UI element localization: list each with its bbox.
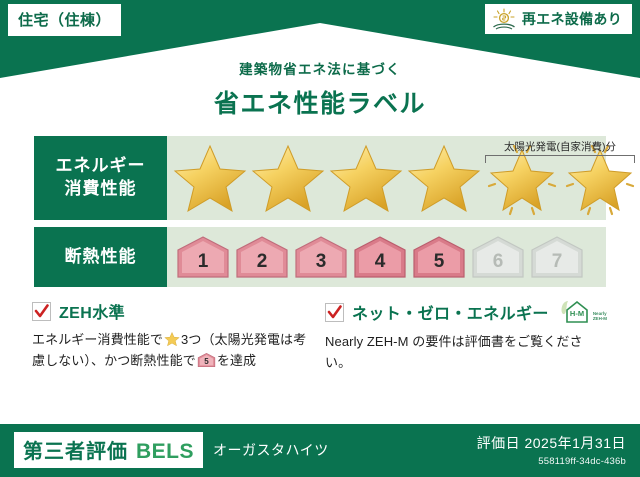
note-zeh-header: ZEH水準	[32, 299, 315, 323]
insulation-performance-row: 断熱性能 1	[34, 227, 606, 287]
energy-label-line2: 消費性能	[65, 178, 137, 201]
label-content-panel: 建築物省エネ法に基づく 省エネ性能ラベル エネルギー 消費性能	[18, 44, 622, 422]
energy-row-label: エネルギー 消費性能	[34, 136, 167, 220]
building-type-tag: 住宅（住棟）	[8, 4, 121, 36]
evaluation-date: 評価日 2025年1月31日	[477, 433, 626, 453]
note-net-zero-energy: ネット・ゼロ・エネルギー H-M Nearly ZEH-M Nearly	[325, 299, 608, 373]
insulation-level-4: 4	[352, 233, 408, 281]
energy-label-line1: エネルギー	[56, 155, 146, 178]
bels-certification-badge: 第三者評価 BELS	[14, 432, 203, 468]
label-subtitle: 建築物省エネ法に基づく	[18, 58, 622, 78]
svg-text:3: 3	[316, 251, 327, 272]
svg-text:H-M: H-M	[570, 309, 584, 318]
evaluation-id: 558119ff-34dc-436b	[477, 456, 626, 467]
star-filled-3	[327, 140, 405, 216]
svg-text:7: 7	[552, 251, 563, 272]
zeh-m-sub-line2: ZEH-M	[593, 316, 607, 321]
svg-text:6: 6	[493, 251, 504, 272]
check-icon	[327, 305, 342, 320]
zeh-note-title: ZEH水準	[59, 299, 125, 323]
page-title: 省エネ性能ラベル	[18, 84, 622, 120]
energy-performance-label: 住宅（住棟） 再エネ設備あり 建築物省エネ法に基づく 省エネ性能ラベル	[0, 0, 640, 477]
renewable-badge-label: 再エネ設備あり	[522, 9, 622, 29]
insulation-level-3: 3	[293, 233, 349, 281]
insulation-level-icon: 5	[197, 352, 216, 368]
label-footer: 第三者評価 BELS オーガスタハイツ 評価日 2025年1月31日 55811…	[0, 422, 640, 477]
insulation-level-2: 2	[234, 233, 290, 281]
insulation-level-7: 7	[529, 233, 585, 281]
insulation-level-6: 6	[470, 233, 526, 281]
star-filled-4	[405, 140, 483, 216]
zeh-body-part1: エネルギー消費性能で	[32, 332, 163, 347]
sun-icon	[491, 8, 517, 30]
energy-row-value: 太陽光発電(自家消費)分	[167, 136, 639, 220]
svg-text:5: 5	[204, 357, 209, 366]
insulation-level-scale: 1 2	[167, 227, 606, 287]
nze-note-title: ネット・ゼロ・エネルギー	[352, 300, 549, 324]
energy-performance-row: エネルギー 消費性能	[34, 136, 606, 220]
rating-rows: エネルギー 消費性能	[34, 136, 606, 287]
nze-checkbox[interactable]	[325, 303, 344, 322]
notes-section: ZEH水準 エネルギー消費性能で 3つ（太陽光発電は考慮しない）、かつ断熱性能で…	[32, 299, 608, 373]
insulation-label-line1: 断熱性能	[65, 246, 137, 269]
zeh-checkbox[interactable]	[32, 302, 51, 321]
star-rating: 太陽光発電(自家消費)分	[167, 136, 639, 220]
nze-note-header: ネット・ゼロ・エネルギー H-M Nearly ZEH-M	[325, 299, 608, 325]
title-block: 建築物省エネ法に基づく 省エネ性能ラベル	[18, 44, 622, 120]
zeh-m-logo-sub: Nearly ZEH-M	[593, 311, 607, 325]
insulation-row-label: 断熱性能	[34, 227, 167, 287]
star-filled-1	[171, 140, 249, 216]
zeh-note-body: エネルギー消費性能で 3つ（太陽光発電は考慮しない）、かつ断熱性能で 5 を達成	[32, 329, 315, 371]
insulation-level-1: 1	[175, 233, 231, 281]
evaluation-date-value: 2025年1月31日	[524, 435, 626, 451]
zeh-m-house-icon: H-M	[557, 299, 591, 325]
solar-annotation-label: 太陽光発電(自家消費)分	[485, 139, 635, 154]
star-icon	[164, 331, 180, 347]
solar-bracket	[485, 155, 635, 163]
svg-text:2: 2	[257, 251, 268, 272]
solar-annotation: 太陽光発電(自家消費)分	[485, 139, 635, 163]
zeh-body-part3: を達成	[217, 353, 256, 368]
svg-text:1: 1	[198, 251, 209, 272]
insulation-row-value: 1 2	[167, 227, 606, 287]
renewable-equipment-badge: 再エネ設備あり	[485, 4, 632, 34]
nze-note-body: Nearly ZEH-M の要件は評価書をご覧ください。	[325, 331, 608, 373]
check-icon	[34, 304, 49, 319]
bels-en-label: BELS	[136, 440, 194, 464]
svg-text:5: 5	[434, 251, 445, 272]
zeh-m-logo: H-M Nearly ZEH-M	[557, 299, 607, 325]
svg-text:4: 4	[375, 251, 386, 272]
evaluation-info: 評価日 2025年1月31日 558119ff-34dc-436b	[477, 433, 626, 467]
note-zeh-standard: ZEH水準 エネルギー消費性能で 3つ（太陽光発電は考慮しない）、かつ断熱性能で…	[32, 299, 315, 373]
evaluation-date-label: 評価日	[477, 435, 521, 451]
building-name: オーガスタハイツ	[213, 440, 329, 460]
bels-jp-label: 第三者評価	[23, 435, 128, 464]
insulation-level-5: 5	[411, 233, 467, 281]
star-filled-2	[249, 140, 327, 216]
